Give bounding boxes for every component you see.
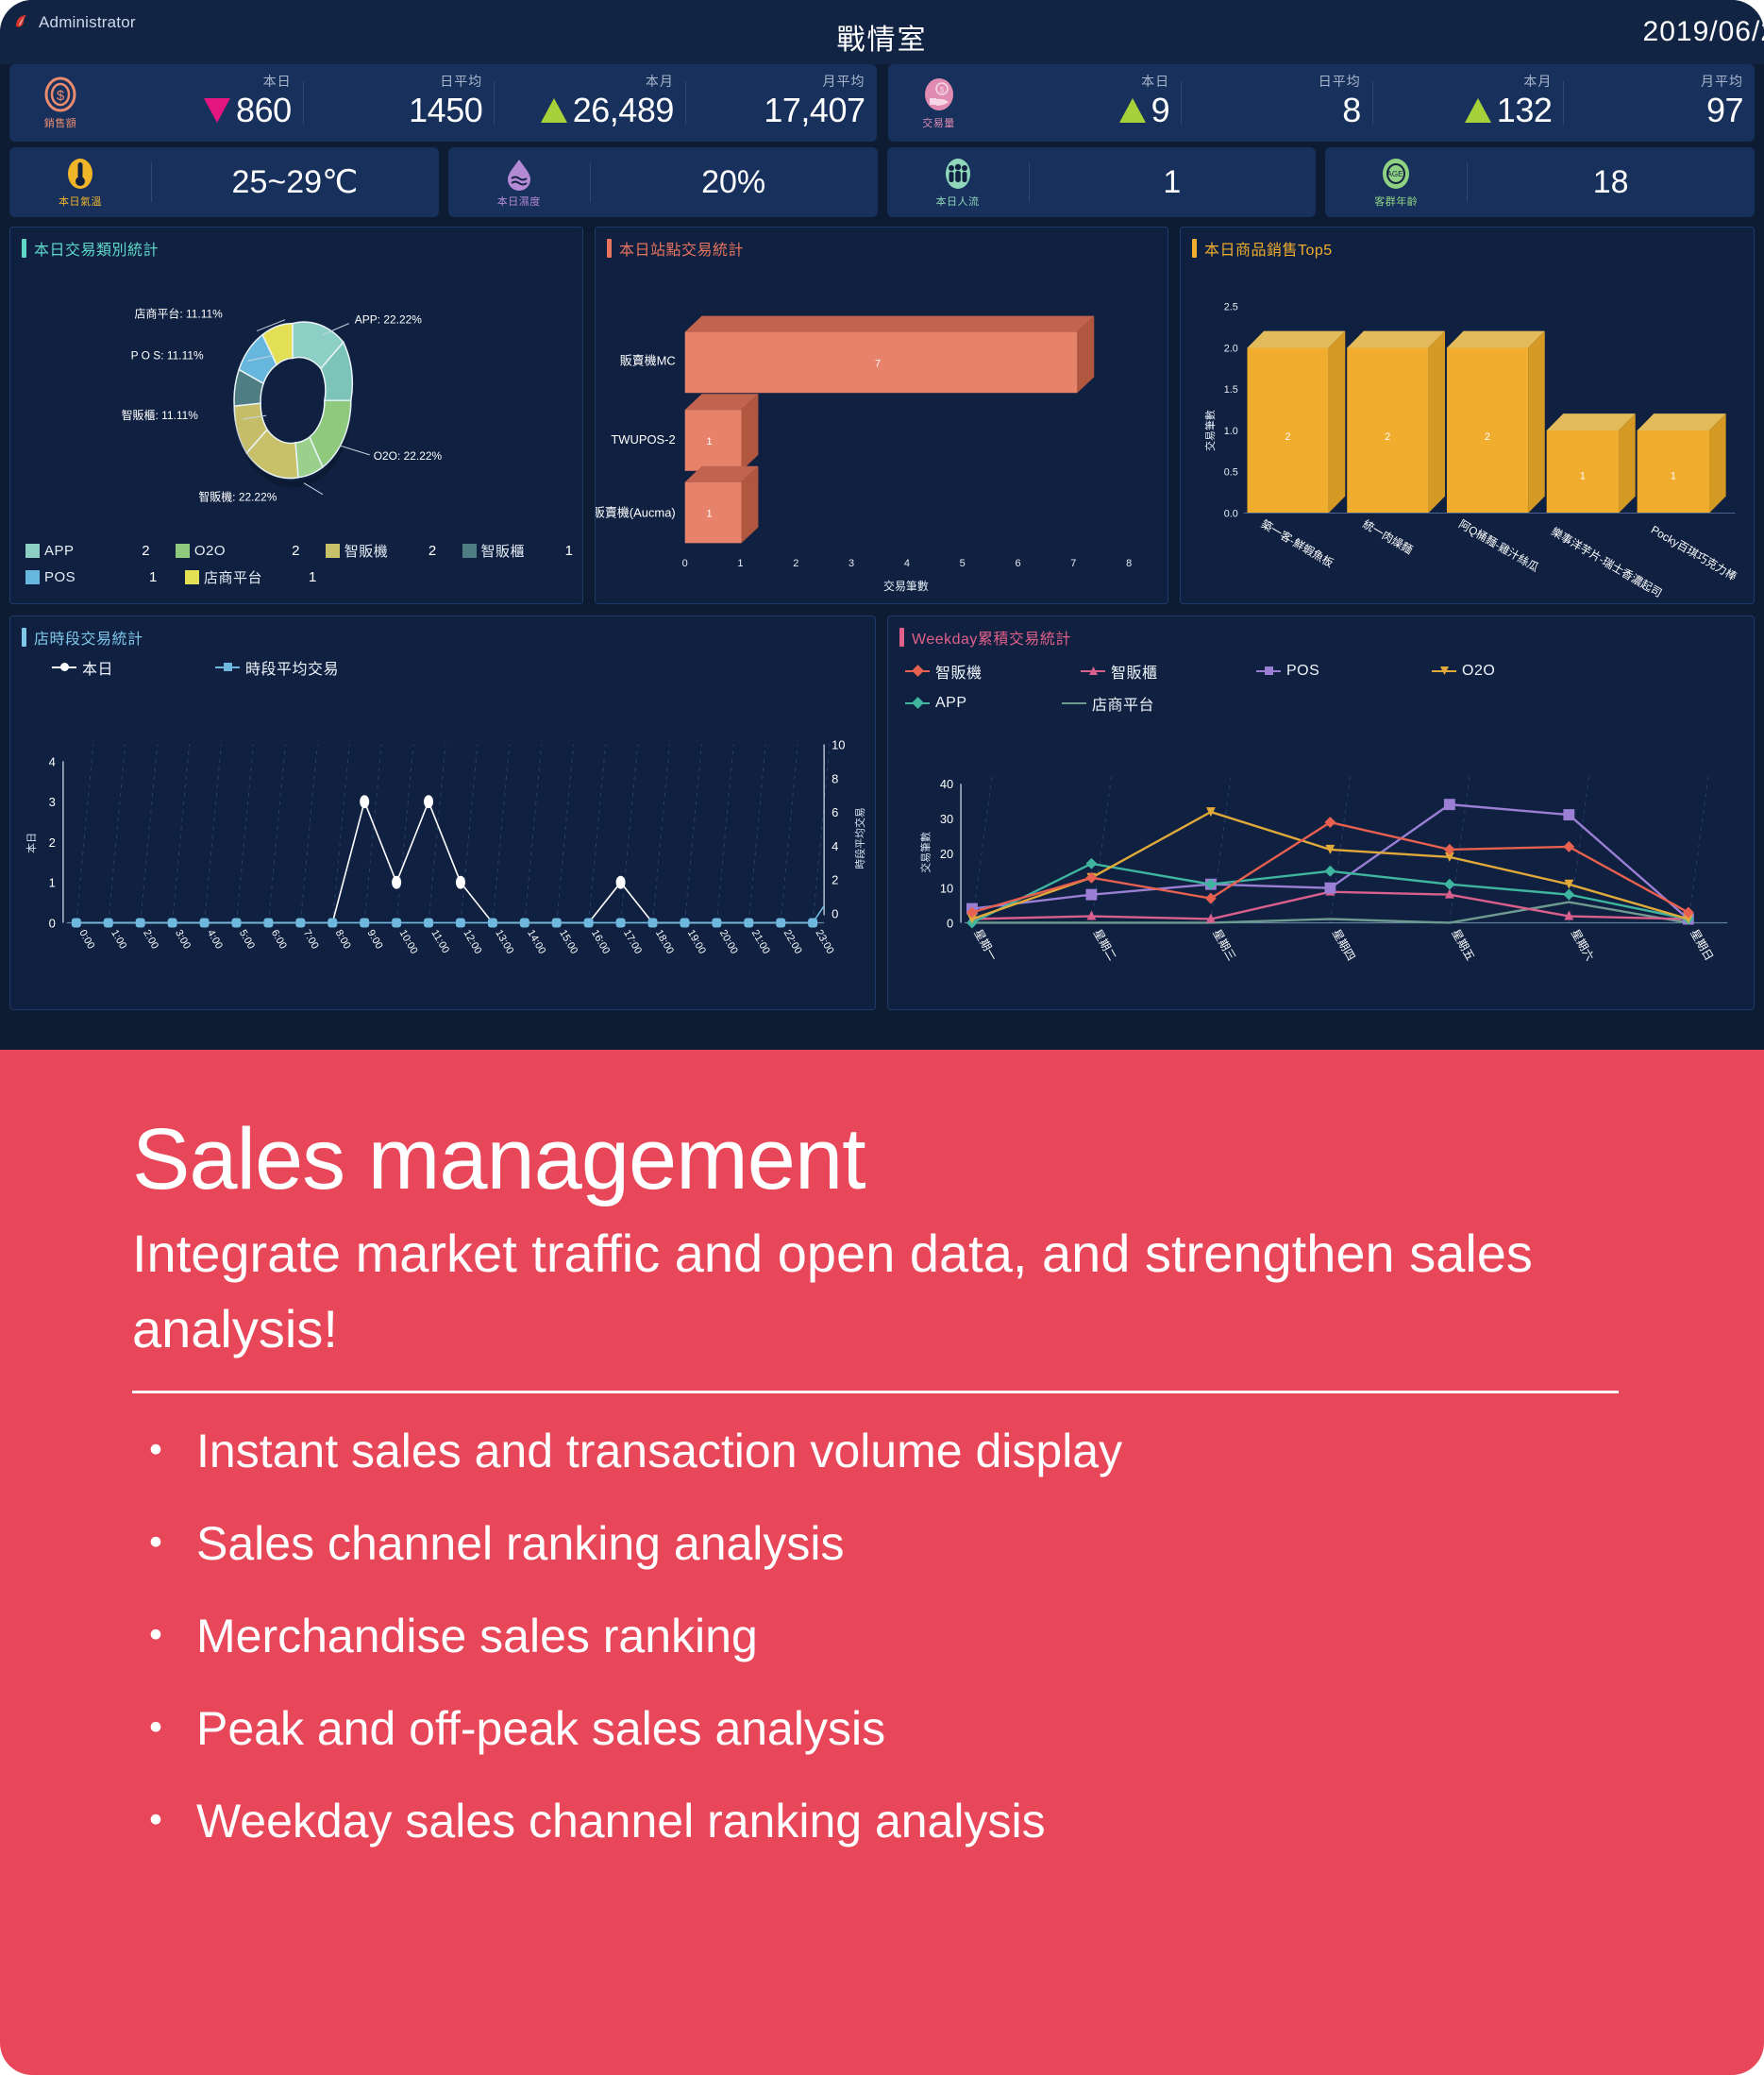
- svg-text:$: $: [939, 86, 944, 94]
- top5-xtick-0: 築一客-鮮蝦魚板: [1259, 517, 1336, 570]
- svg-text:5: 5: [960, 558, 966, 569]
- bar-twupos-2: 1: [685, 394, 759, 471]
- bullet-icon: ・: [132, 1520, 179, 1567]
- kpi-metric-sales-today: 本日 860: [111, 64, 303, 142]
- bar-vending-aucma: 1: [685, 466, 759, 544]
- svg-text:10: 10: [940, 882, 953, 896]
- svg-text:2: 2: [1385, 431, 1390, 443]
- bar-ylabel-0: 販賣機MC: [620, 353, 676, 367]
- svg-text:1.0: 1.0: [1224, 426, 1238, 437]
- svg-text:30: 30: [940, 812, 953, 826]
- promo-divider: [132, 1391, 1619, 1393]
- kpi-metric-label: 本日: [1141, 72, 1169, 91]
- promo-list-item-label: Instant sales and transaction volume dis…: [196, 1427, 1122, 1475]
- svg-text:$: $: [57, 88, 65, 104]
- dashboard-header: Administrator 戰情室 2019/06/2: [0, 0, 1764, 64]
- svg-text:2.0: 2.0: [1224, 343, 1238, 354]
- promo-list-item: ・ Merchandise sales ranking: [132, 1612, 1651, 1660]
- svg-text:20: 20: [940, 847, 953, 861]
- svg-text:0: 0: [832, 907, 838, 921]
- promo-list-item: ・ Peak and off-peak sales analysis: [132, 1705, 1651, 1752]
- legend-item-vending-machine[interactable]: 智販機: [326, 541, 423, 561]
- legend-label: APP: [44, 543, 75, 559]
- svg-text:2: 2: [1485, 431, 1490, 443]
- kpi-icon-label-sales: 銷售額: [44, 115, 77, 130]
- panels-area: 本日交易類別統計: [9, 227, 1755, 1010]
- site-xlabel: 交易筆數: [883, 579, 929, 593]
- kpi-metric-sales-month-avg: 月平均 17,407: [685, 64, 877, 142]
- kpi-icon-label-age: 客群年齡: [1374, 194, 1418, 209]
- kpi-icon-label-transactions: 交易量: [922, 115, 955, 130]
- kpi-icon-label-humidity: 本日濕度: [497, 194, 541, 209]
- panel-title-top5: 本日商品銷售Top5: [1192, 237, 1333, 260]
- svg-text:星期五: 星期五: [1449, 927, 1477, 963]
- weekday-ylabel: 交易筆數: [919, 832, 932, 873]
- dashboard-title: 戰情室: [0, 16, 1764, 58]
- svg-text:40: 40: [940, 777, 953, 791]
- svg-text:21:00: 21:00: [749, 928, 772, 956]
- kpi-metric-sales-daily-avg: 日平均 1450: [303, 64, 495, 142]
- legend-swatch: [462, 544, 477, 558]
- kpi-value-age: 18: [1467, 164, 1755, 201]
- kpi-metric-tx-month-avg: 月平均 97: [1563, 64, 1755, 142]
- legend-item-pos[interactable]: POS: [25, 569, 143, 585]
- svg-text:17:00: 17:00: [621, 928, 644, 956]
- panel-label: Weekday累積交易統計: [912, 626, 1071, 649]
- svg-text:1: 1: [1580, 471, 1586, 482]
- svg-text:1: 1: [49, 876, 56, 890]
- trend-up-icon: [541, 98, 567, 123]
- legend-label: 智販機: [344, 541, 389, 561]
- site-bar-chart: 7 販賣機MC 1 TWUPOS-2: [596, 261, 1168, 603]
- divider: [151, 162, 152, 202]
- svg-text:10:00: 10:00: [396, 928, 419, 956]
- kpi-secondary-row: 本日氣溫 25~29℃ 本日濕度 20%: [0, 147, 1764, 217]
- kpi-value-temperature: 25~29℃: [151, 163, 439, 201]
- legend-item-o2o[interactable]: O2O: [176, 543, 286, 559]
- top5-xtick-1: 統一肉燥麵: [1360, 517, 1415, 557]
- panels-row-1: 本日交易類別統計: [9, 227, 1755, 604]
- svg-text:1: 1: [737, 558, 743, 569]
- panel-title-weekday: Weekday累積交易統計: [899, 626, 1071, 649]
- accent-bar: [22, 628, 26, 647]
- kpi-metric-label: 本月: [1523, 72, 1552, 91]
- kpi-icon-wrap-age: AGE 客群年齡: [1325, 157, 1467, 209]
- top5-ylabel: 交易筆數: [1203, 410, 1217, 451]
- panel-label: 本日交易類別統計: [34, 237, 159, 260]
- svg-text:2: 2: [832, 873, 838, 887]
- svg-text:3: 3: [49, 795, 56, 809]
- top5-xtick-4: Pocky百琪巧克力棒: [1649, 523, 1739, 583]
- top5-bar-3: 1: [1547, 413, 1636, 513]
- kpi-metric-label: 本日: [263, 72, 292, 91]
- svg-text:星期日: 星期日: [1688, 927, 1716, 963]
- accent-bar: [607, 239, 612, 258]
- hourly-ylabel: 本日: [25, 833, 38, 853]
- kpi-icon-wrap-humidity: 本日濕度: [448, 157, 590, 209]
- svg-text:7: 7: [1070, 558, 1076, 569]
- svg-text:6:00: 6:00: [269, 928, 289, 951]
- svg-text:10: 10: [832, 737, 845, 751]
- svg-text:6: 6: [832, 805, 838, 819]
- divider: [590, 162, 591, 202]
- panel-hourly-transactions[interactable]: 店時段交易統計 本日 時段平均交: [9, 616, 876, 1010]
- top5-xtick-2: 阿Q桶麵-雞汁絲瓜: [1456, 517, 1541, 575]
- legend-swatch: [25, 544, 40, 558]
- kpi-metric-label: 月平均: [1701, 72, 1743, 91]
- legend-swatch: [25, 570, 40, 584]
- panels-row-2: 店時段交易統計 本日 時段平均交: [9, 616, 1755, 1010]
- panel-title-donut: 本日交易類別統計: [22, 237, 159, 260]
- legend-value: 1: [565, 543, 573, 559]
- weekday-line-chart: 4030 20100 交易筆數: [888, 650, 1754, 1009]
- top5-xtick-3: 樂事洋芋片-瑞士香濃起司: [1549, 525, 1664, 600]
- donut-callout-2: P O S: 11.11%: [131, 348, 204, 362]
- legend-value: 1: [149, 569, 185, 585]
- svg-text:11:00: 11:00: [428, 928, 451, 955]
- promo-list-item-label: Sales channel ranking analysis: [196, 1520, 845, 1567]
- kpi-metric-label: 本月: [646, 72, 674, 91]
- legend-swatch: [326, 544, 340, 558]
- bullet-icon: ・: [132, 1427, 179, 1475]
- age-badge-icon: AGE: [1380, 157, 1412, 193]
- svg-text:4: 4: [832, 839, 838, 853]
- svg-text:0:00: 0:00: [76, 928, 96, 951]
- donut-callout-1: APP: 22.22%: [355, 313, 422, 327]
- kpi-metric-value: 17,407: [764, 91, 865, 130]
- svg-text:0.0: 0.0: [1224, 508, 1238, 519]
- svg-text:3: 3: [848, 558, 854, 569]
- panel-weekday-transactions[interactable]: Weekday累積交易統計 智販機: [887, 616, 1755, 1010]
- kpi-metric-label: 日平均: [440, 72, 482, 91]
- top5-bar-0: 2: [1247, 331, 1345, 514]
- kpi-metric-label: 月平均: [823, 72, 865, 91]
- kpi-value-humidity: 20%: [590, 164, 878, 201]
- legend-swatch: [185, 570, 199, 584]
- svg-text:1: 1: [707, 436, 713, 447]
- kpi-card-transactions[interactable]: $ 交易量 本日 9: [888, 64, 1756, 142]
- svg-text:18:00: 18:00: [653, 928, 676, 956]
- kpi-metric-value: 26,489: [573, 91, 674, 130]
- kpi-metrics-sales: 本日 860 日平均 1450 本月: [111, 64, 877, 142]
- legend-swatch: [176, 544, 190, 558]
- svg-text:2: 2: [793, 558, 798, 569]
- hourly-line-chart: 43 210 本日 108 64 20 時段平均交易: [10, 650, 875, 1009]
- promo-list-item-label: Weekday sales channel ranking analysis: [196, 1797, 1046, 1845]
- kpi-card-sales[interactable]: $ 銷售額 本日 860 日平均: [9, 64, 877, 142]
- svg-text:1: 1: [707, 509, 713, 520]
- kpi-metric-value: 860: [236, 91, 292, 130]
- svg-text:星期四: 星期四: [1330, 927, 1358, 963]
- svg-text:14:00: 14:00: [525, 928, 547, 956]
- kpi-card-temperature[interactable]: 本日氣溫 25~29℃: [9, 147, 439, 217]
- panel-site-transactions[interactable]: 本日站點交易統計 7 販賣機MC: [595, 227, 1168, 604]
- top5-bar-chart: 2.52.01.5 1.00.50.0 交易筆數 2: [1181, 261, 1754, 603]
- promo-title: Sales management: [132, 1116, 1651, 1203]
- donut-legend-row-1: APP 2 O2O 2 智販機 2: [25, 541, 573, 561]
- svg-text:1: 1: [1671, 471, 1676, 482]
- svg-text:2.5: 2.5: [1224, 302, 1238, 313]
- svg-text:16:00: 16:00: [589, 928, 612, 956]
- donut-callout-3: O2O: 22.22%: [374, 449, 443, 463]
- svg-text:3:00: 3:00: [173, 928, 193, 951]
- svg-text:20:00: 20:00: [717, 928, 740, 956]
- legend-value: 2: [428, 543, 462, 559]
- svg-text:12:00: 12:00: [461, 928, 483, 956]
- svg-text:星期六: 星期六: [1569, 927, 1597, 963]
- svg-text:1:00: 1:00: [109, 928, 128, 951]
- kpi-metric-value: 9: [1151, 91, 1170, 130]
- kpi-icon-wrap-transactions: $ 交易量: [888, 76, 990, 130]
- legend-label: 智販櫃: [481, 541, 526, 561]
- svg-text:1.5: 1.5: [1224, 384, 1238, 396]
- svg-text:星期三: 星期三: [1210, 927, 1238, 963]
- svg-text:5:00: 5:00: [237, 928, 257, 951]
- promo-list-item: ・ Instant sales and transaction volume d…: [132, 1427, 1651, 1475]
- dashboard-screenshot: Administrator 戰情室 2019/06/2 $ 銷售額: [0, 0, 1764, 1050]
- donut-legend-row-2: POS 1 店商平台 1: [25, 567, 573, 587]
- kpi-icon-wrap-temperature: 本日氣溫: [9, 157, 151, 209]
- svg-text:0: 0: [49, 916, 56, 930]
- legend-label: POS: [44, 569, 76, 585]
- donut-callout-5: 智販機: 22.22%: [198, 490, 277, 504]
- panel-title-site: 本日站點交易統計: [607, 237, 744, 260]
- top5-bar-2: 2: [1447, 331, 1545, 514]
- kpi-icon-wrap-sales: $ 銷售額: [9, 76, 111, 130]
- promo-list-item: ・ Sales channel ranking analysis: [132, 1520, 1651, 1567]
- thermometer-icon: [64, 157, 96, 193]
- kpi-metric-tx-month: 本月 132: [1372, 64, 1564, 142]
- trend-up-icon: [1465, 98, 1491, 123]
- svg-text:4:00: 4:00: [205, 928, 225, 951]
- bar-ylabel-2: 販賣機(Aucma): [596, 506, 676, 520]
- kpi-card-age[interactable]: AGE 客群年齡 18: [1325, 147, 1755, 217]
- svg-text:8: 8: [832, 771, 838, 785]
- kpi-primary-row: $ 銷售額 本日 860 日平均: [0, 64, 1764, 142]
- panel-title-hourly: 店時段交易統計: [22, 626, 143, 649]
- promo-subtitle: Integrate market traffic and open data, …: [132, 1216, 1604, 1366]
- svg-text:13:00: 13:00: [493, 928, 515, 956]
- accent-bar: [22, 239, 26, 258]
- svg-text:2: 2: [1285, 431, 1291, 443]
- dashboard-date: 2019/06/2: [1643, 16, 1764, 48]
- svg-text:8:00: 8:00: [333, 928, 353, 951]
- kpi-metrics-transactions: 本日 9 日平均 8 本月: [990, 64, 1756, 142]
- panel-label: 本日商品銷售Top5: [1204, 237, 1333, 260]
- kpi-card-humidity[interactable]: 本日濕度 20%: [448, 147, 878, 217]
- panel-label: 店時段交易統計: [34, 626, 143, 649]
- kpi-metric-value: 1450: [409, 91, 482, 130]
- kpi-metric-tx-daily-avg: 日平均 8: [1181, 64, 1372, 142]
- svg-text:6: 6: [1015, 558, 1020, 569]
- kpi-icon-wrap-footfall: 本日人流: [887, 157, 1029, 209]
- promo-section: Sales management Integrate market traffi…: [0, 1050, 1764, 2075]
- legend-label: O2O: [194, 543, 226, 559]
- svg-text:4: 4: [49, 754, 56, 768]
- svg-text:星期一: 星期一: [971, 927, 1000, 963]
- bullet-icon: ・: [132, 1705, 179, 1752]
- trend-down-icon: [204, 98, 230, 123]
- kpi-metric-value: 97: [1706, 91, 1743, 130]
- svg-text:8: 8: [1126, 558, 1132, 569]
- svg-text:2:00: 2:00: [141, 928, 160, 951]
- promo-list-item-label: Merchandise sales ranking: [196, 1612, 758, 1660]
- svg-text:9:00: 9:00: [365, 928, 385, 951]
- top5-bar-1: 2: [1347, 331, 1445, 514]
- panel-product-top5[interactable]: 本日商品銷售Top5 2.52.01.5 1.00.50.0 交易筆數: [1180, 227, 1755, 604]
- divider: [1029, 162, 1030, 202]
- donut-callout-0: 店商平台: 11.11%: [135, 307, 224, 321]
- panel-label: 本日站點交易統計: [619, 237, 744, 260]
- kpi-metric-label: 日平均: [1319, 72, 1361, 91]
- legend-label: 店商平台: [204, 567, 262, 587]
- page-root: Administrator 戰情室 2019/06/2 $ 銷售額: [0, 0, 1764, 2075]
- bullet-icon: ・: [132, 1797, 179, 1845]
- promo-list-item-label: Peak and off-peak sales analysis: [196, 1705, 885, 1752]
- kpi-metric-value: 132: [1497, 91, 1553, 130]
- water-drop-icon: [503, 157, 535, 193]
- donut-legend: APP 2 O2O 2 智販機 2: [25, 541, 573, 594]
- svg-text:7: 7: [875, 358, 881, 369]
- svg-text:星期二: 星期二: [1091, 927, 1119, 963]
- top5-bar-4: 1: [1638, 413, 1726, 513]
- legend-item-vending-cabinet[interactable]: 智販櫃: [462, 541, 560, 561]
- svg-text:15:00: 15:00: [557, 928, 580, 956]
- panel-transaction-category[interactable]: 本日交易類別統計: [9, 227, 583, 604]
- svg-text:0: 0: [682, 558, 688, 569]
- coin-dollar-icon: $: [43, 76, 77, 114]
- divider: [1467, 162, 1468, 202]
- kpi-metric-tx-today: 本日 9: [990, 64, 1182, 142]
- svg-text:19:00: 19:00: [685, 928, 708, 956]
- trend-up-icon: [1119, 98, 1146, 123]
- svg-text:0: 0: [947, 916, 953, 930]
- svg-text:2: 2: [49, 835, 56, 850]
- people-icon: [942, 157, 974, 193]
- kpi-metric-value: 8: [1342, 91, 1361, 130]
- kpi-value-footfall: 1: [1029, 164, 1317, 201]
- kpi-icon-label-footfall: 本日人流: [936, 194, 980, 209]
- svg-text:7:00: 7:00: [301, 928, 321, 951]
- svg-text:23:00: 23:00: [814, 928, 836, 956]
- svg-text:AGE: AGE: [1387, 170, 1403, 178]
- kpi-metric-sales-month: 本月 26,489: [494, 64, 685, 142]
- svg-text:22:00: 22:00: [781, 928, 804, 956]
- hourly-y2label: 時段平均交易: [853, 807, 866, 869]
- accent-bar: [1192, 239, 1197, 258]
- bar-ylabel-1: TWUPOS-2: [611, 432, 675, 447]
- bar-vending-mc: 7: [685, 316, 1095, 394]
- accent-bar: [899, 628, 904, 647]
- promo-feature-list: ・ Instant sales and transaction volume d…: [132, 1427, 1651, 1845]
- hand-coin-icon: $: [922, 76, 956, 114]
- legend-item-ecommerce[interactable]: 店商平台: [185, 567, 303, 587]
- legend-value: 1: [309, 569, 316, 585]
- donut-callout-4: 智販櫃: 11.11%: [122, 408, 199, 422]
- svg-text:4: 4: [904, 558, 910, 569]
- kpi-card-footfall[interactable]: 本日人流 1: [887, 147, 1317, 217]
- legend-value: 2: [292, 543, 326, 559]
- legend-item-app[interactable]: APP: [25, 543, 136, 559]
- bullet-icon: ・: [132, 1612, 179, 1660]
- legend-value: 2: [142, 543, 176, 559]
- promo-list-item: ・ Weekday sales channel ranking analysis: [132, 1797, 1651, 1845]
- kpi-icon-label-temperature: 本日氣溫: [59, 194, 102, 209]
- svg-text:0.5: 0.5: [1224, 467, 1238, 479]
